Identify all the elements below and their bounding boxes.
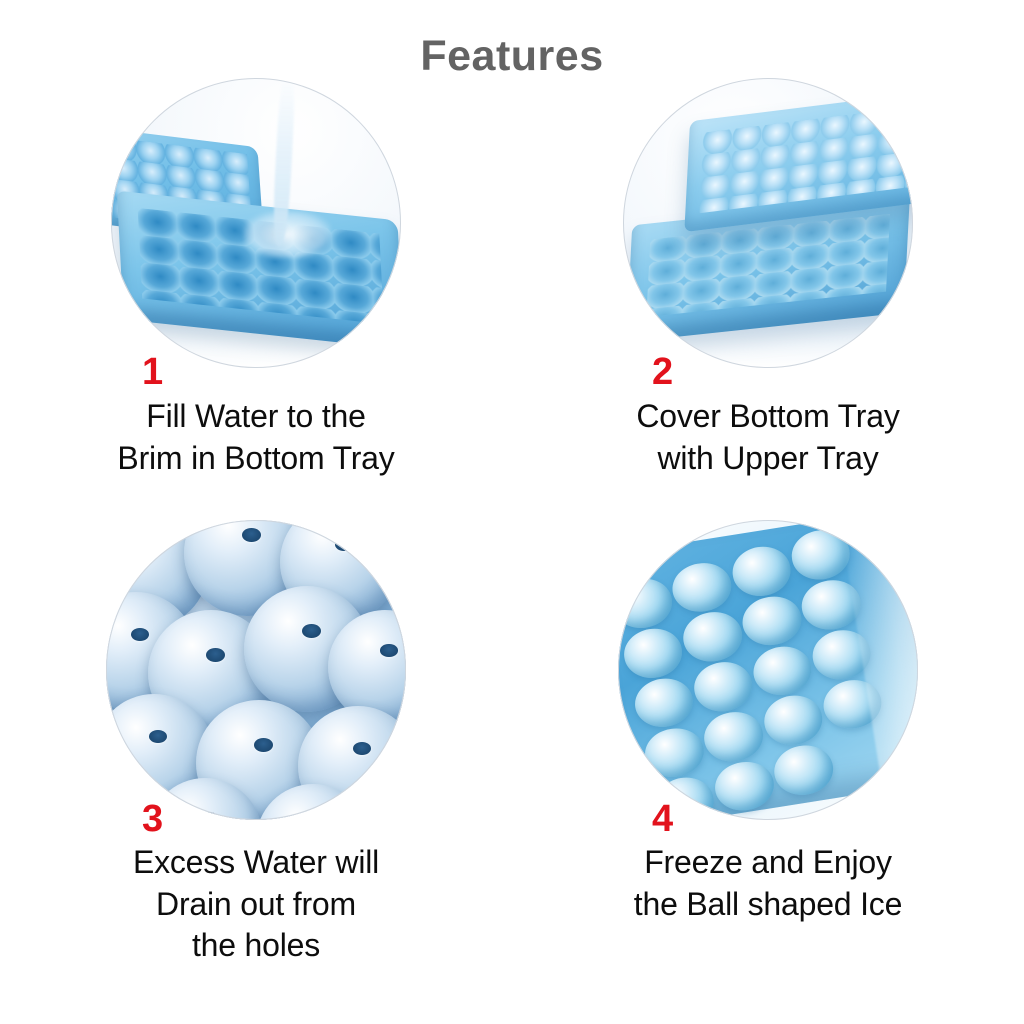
step-caption-3: Excess Water will Drain out from the hol…	[0, 842, 512, 967]
drain-hole	[353, 742, 371, 755]
features-infographic: Features	[0, 0, 1024, 1024]
ice-ball	[669, 559, 734, 616]
caption-line: Fill Water to the	[0, 396, 512, 438]
page-title: Features	[0, 34, 1024, 79]
drain-hole	[149, 730, 167, 743]
ice-ball	[729, 543, 794, 600]
ice-ball	[680, 608, 745, 665]
dome-cluster	[106, 520, 406, 820]
drain-hole	[242, 528, 261, 542]
step-4-image-circle	[618, 520, 918, 820]
ice-ball	[701, 708, 766, 765]
ice-ball	[771, 742, 836, 799]
caption-line: with Upper Tray	[512, 438, 1024, 480]
step-number-2: 2	[652, 353, 673, 391]
drain-hole	[206, 648, 225, 662]
ice-ball	[712, 758, 777, 815]
drain-hole	[200, 812, 217, 820]
step-card-2: 2 Cover Bottom Tray with Upper Tray	[512, 78, 1024, 482]
water-splash	[244, 211, 331, 257]
drain-hole	[143, 544, 161, 557]
drain-hole	[308, 818, 325, 820]
caption-line: the holes	[0, 925, 512, 967]
step-3-image-circle	[106, 520, 406, 820]
ice-ball	[739, 592, 804, 649]
step-4-photo	[618, 520, 918, 820]
step-number-1: 1	[142, 353, 163, 391]
tray-cavities	[647, 215, 890, 317]
step-card-4: 4 Freeze and Enjoy the Ball shaped Ice	[512, 482, 1024, 952]
scene-drain-holes	[106, 520, 406, 820]
caption-line: Freeze and Enjoy	[512, 842, 1024, 884]
step-card-3: 3 Excess Water will Drain out from the h…	[0, 482, 512, 952]
ice-ball	[618, 575, 675, 632]
step-1-image-circle	[111, 78, 401, 368]
step-number-3: 3	[142, 800, 163, 838]
ice-ball	[690, 658, 755, 715]
ice-ball	[750, 642, 815, 699]
caption-line: Excess Water will	[0, 842, 512, 884]
scene-frozen-ice	[618, 520, 918, 820]
step-caption-2: Cover Bottom Tray with Upper Tray	[512, 396, 1024, 479]
tray-domes	[699, 107, 912, 213]
step-3-photo	[106, 520, 406, 820]
drain-hole	[131, 628, 149, 641]
ice-ball	[621, 625, 686, 682]
caption-line: the Ball shaped Ice	[512, 884, 1024, 926]
step-caption-4: Freeze and Enjoy the Ball shaped Ice	[512, 842, 1024, 925]
drain-hole	[380, 644, 397, 657]
ice-ball	[642, 724, 707, 781]
scene-fill-water	[111, 78, 401, 368]
step-number-4: 4	[652, 800, 673, 838]
step-caption-1: Fill Water to the Brim in Bottom Tray	[0, 396, 512, 479]
ice-ball	[631, 674, 696, 731]
caption-line: Cover Bottom Tray	[512, 396, 1024, 438]
ice-ball	[760, 692, 825, 749]
caption-line: Brim in Bottom Tray	[0, 438, 512, 480]
drain-hole	[335, 538, 353, 551]
step-2-photo	[623, 78, 913, 368]
step-1-photo	[111, 78, 401, 368]
step-card-1: 1 Fill Water to the Brim in Bottom Tray	[0, 78, 512, 482]
steps-grid: 1 Fill Water to the Brim in Bottom Tray	[0, 78, 1024, 1008]
scene-cover-tray	[623, 78, 913, 368]
drain-hole	[302, 624, 321, 638]
drain-hole	[254, 738, 273, 752]
caption-line: Drain out from	[0, 884, 512, 926]
step-2-image-circle	[623, 78, 913, 368]
